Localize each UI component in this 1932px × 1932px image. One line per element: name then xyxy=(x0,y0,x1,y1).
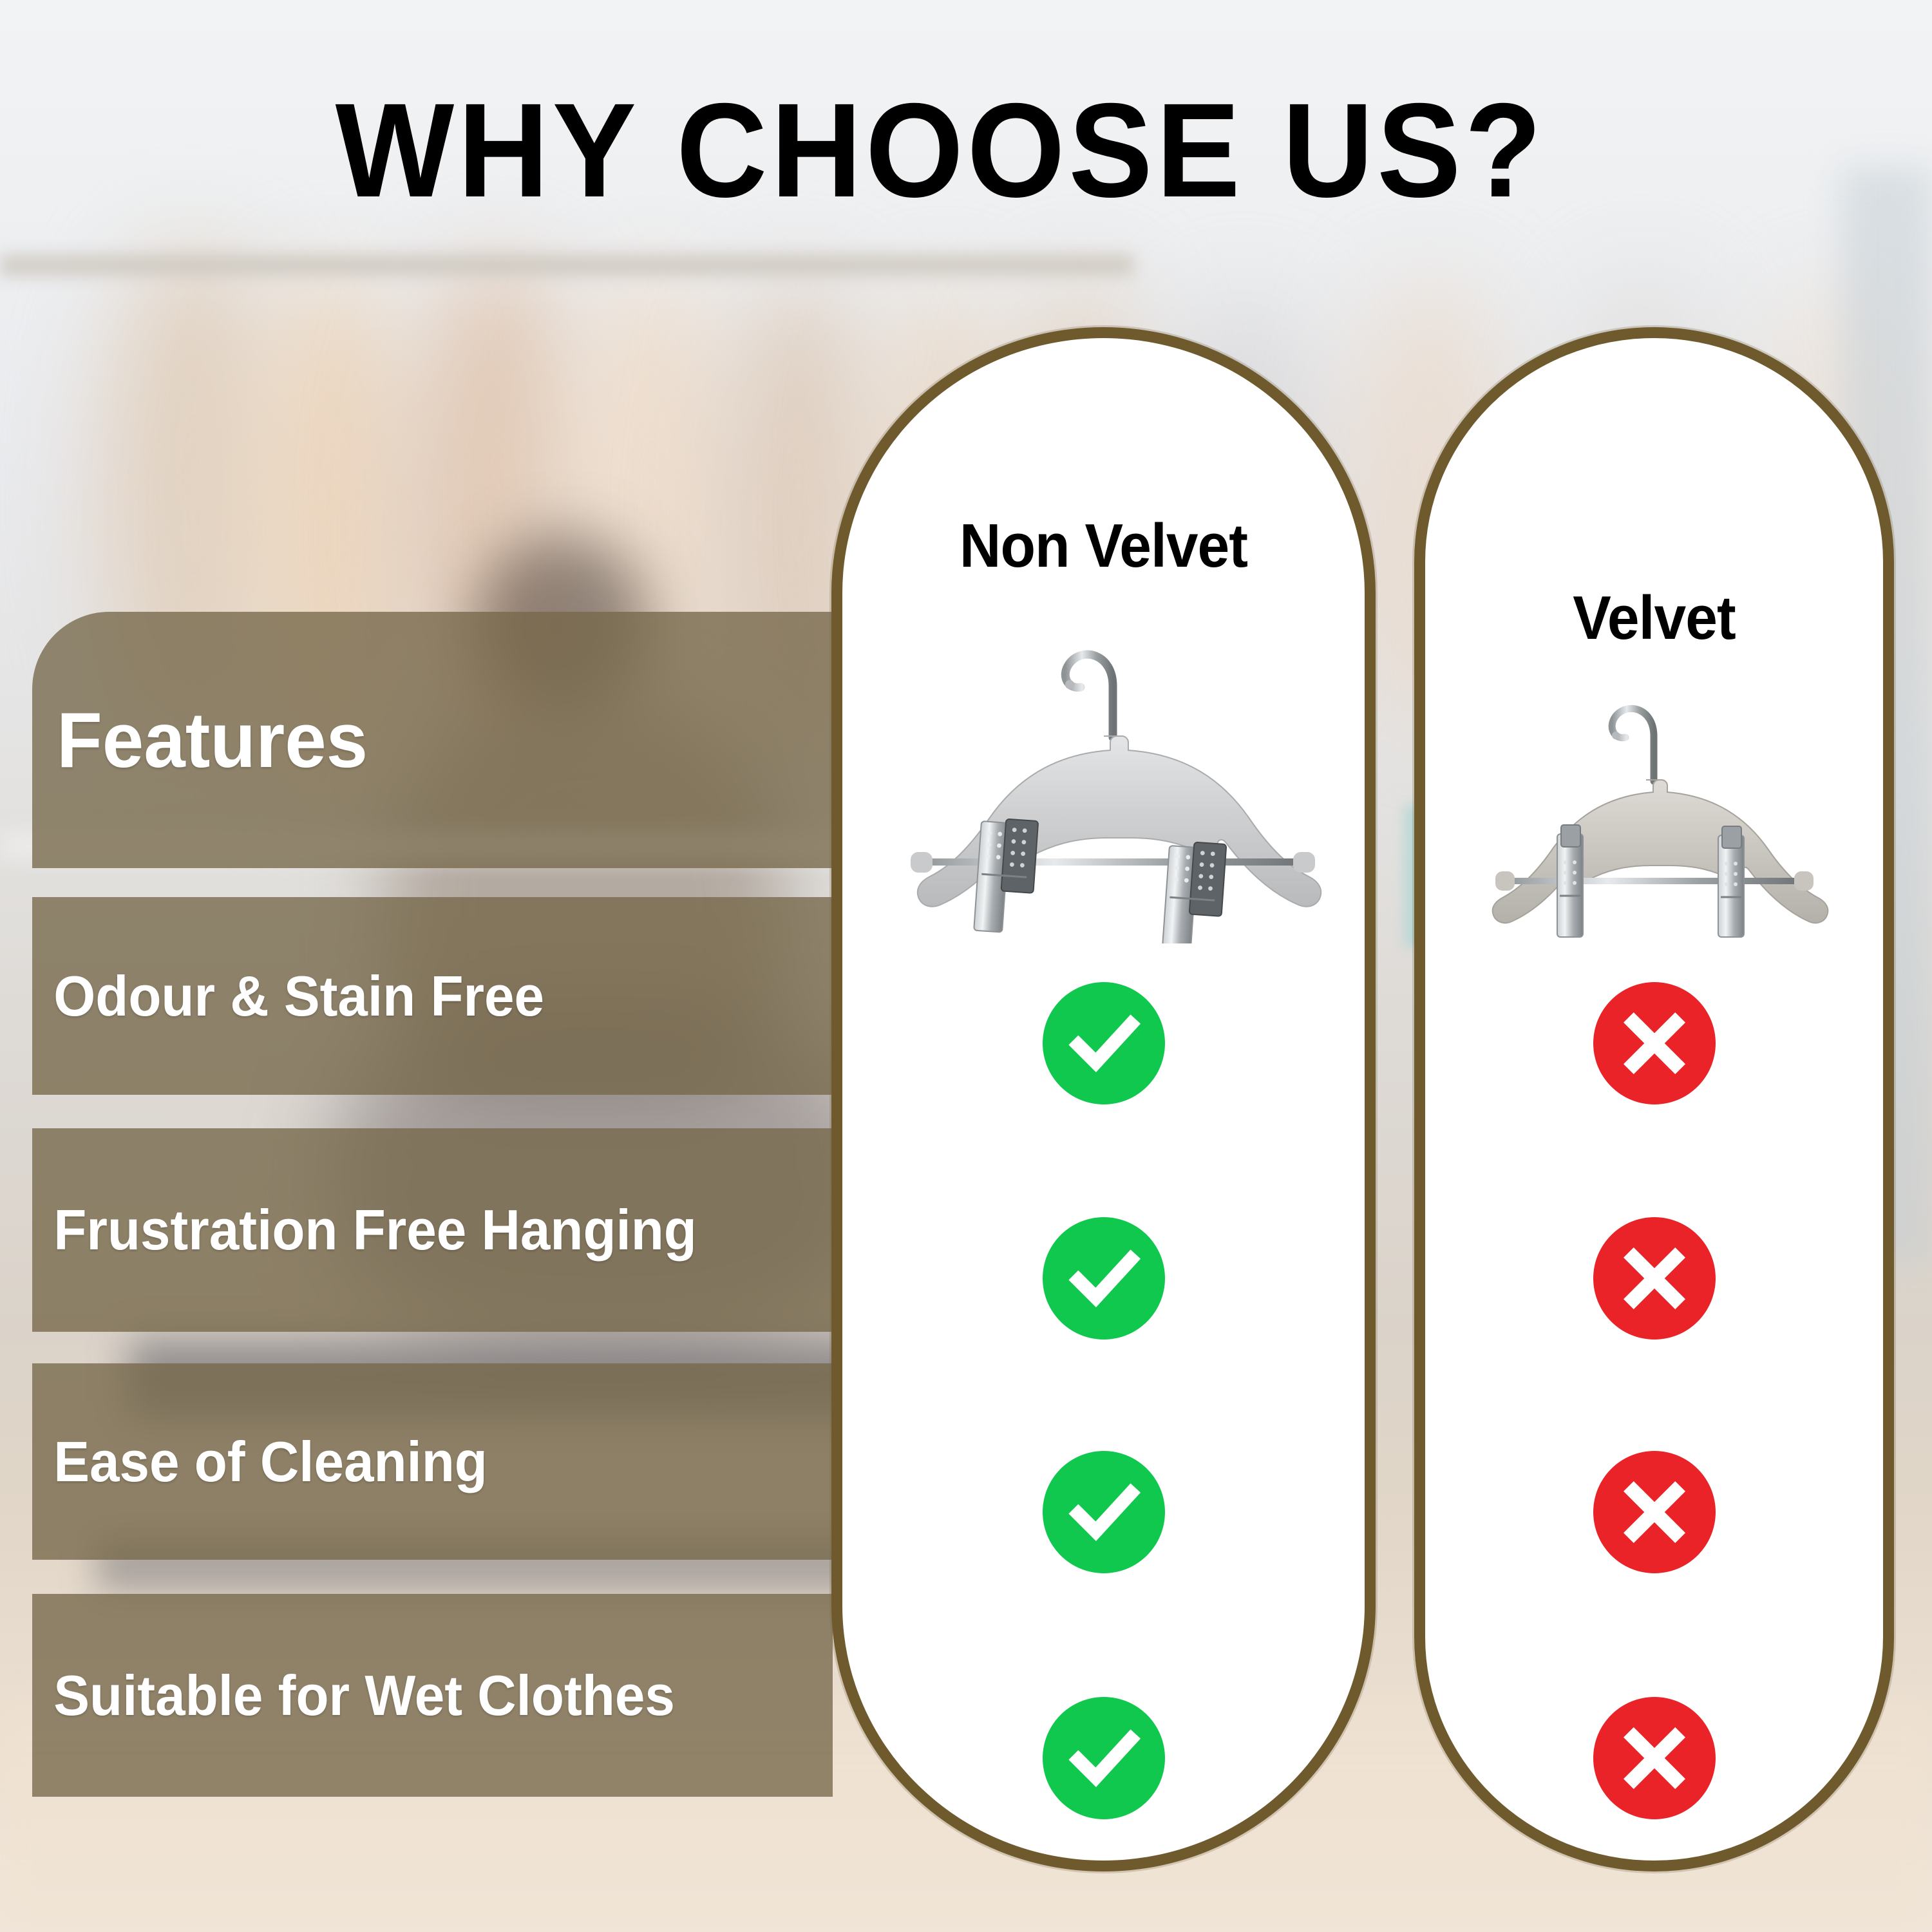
features-list: Features Odour & Stain Free Frustration … xyxy=(0,0,837,1932)
feature-label: Frustration Free Hanging xyxy=(32,1197,697,1263)
status-cross-icon xyxy=(1593,1697,1716,1819)
features-header-label: Features xyxy=(32,695,368,785)
feature-label: Suitable for Wet Clothes xyxy=(32,1663,675,1728)
status-check-icon xyxy=(1043,1217,1165,1340)
status-cross-icon xyxy=(1593,1451,1716,1573)
status-check-icon xyxy=(1043,1451,1165,1573)
status-cross-icon xyxy=(1593,982,1716,1104)
status-cross-icon xyxy=(1593,1217,1716,1340)
comparison-card-non-velvet[interactable]: Non Velvet xyxy=(831,327,1376,1871)
feature-row-ease-of-cleaning[interactable]: Ease of Cleaning xyxy=(32,1363,833,1560)
status-check-icon xyxy=(1043,982,1165,1104)
feature-row-suitable-for-wet-clothes[interactable]: Suitable for Wet Clothes xyxy=(32,1594,833,1797)
feature-row-frustration-free-hanging[interactable]: Frustration Free Hanging xyxy=(32,1128,833,1332)
feature-row-odour-stain-free[interactable]: Odour & Stain Free xyxy=(32,897,833,1095)
features-header-bar: Features xyxy=(32,612,833,868)
feature-label: Ease of Cleaning xyxy=(32,1429,488,1495)
status-icon-column-non-velvet xyxy=(842,338,1365,1861)
status-icon-column-velvet xyxy=(1425,338,1883,1861)
comparison-card-velvet[interactable]: Velvet xyxy=(1414,327,1894,1871)
feature-label: Odour & Stain Free xyxy=(32,963,544,1029)
status-check-icon xyxy=(1043,1697,1165,1819)
